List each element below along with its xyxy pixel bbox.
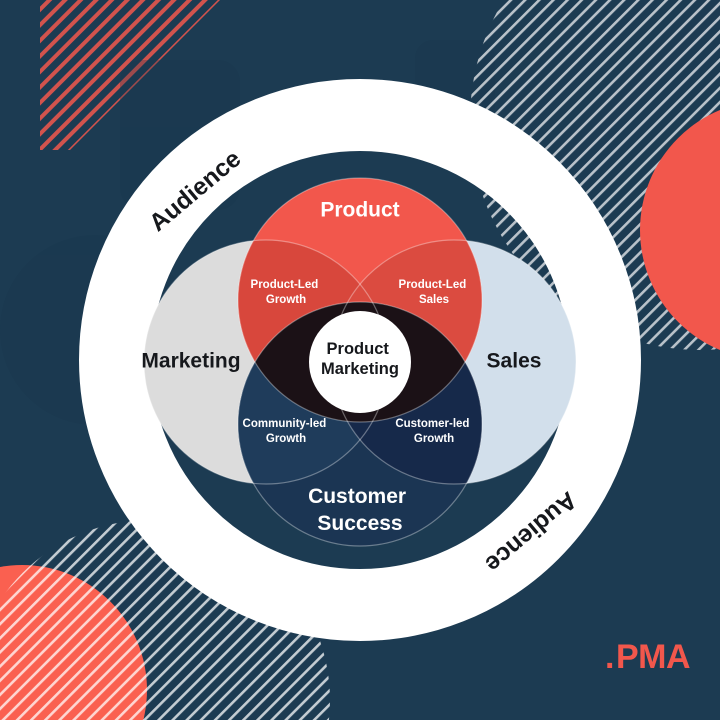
logo-dot: . <box>605 638 614 676</box>
infographic-canvas: Audience Audience Product Marketing Sale… <box>0 0 720 720</box>
logo-text: PMA <box>616 638 690 676</box>
pma-logo[interactable]: . PMA <box>0 0 720 720</box>
